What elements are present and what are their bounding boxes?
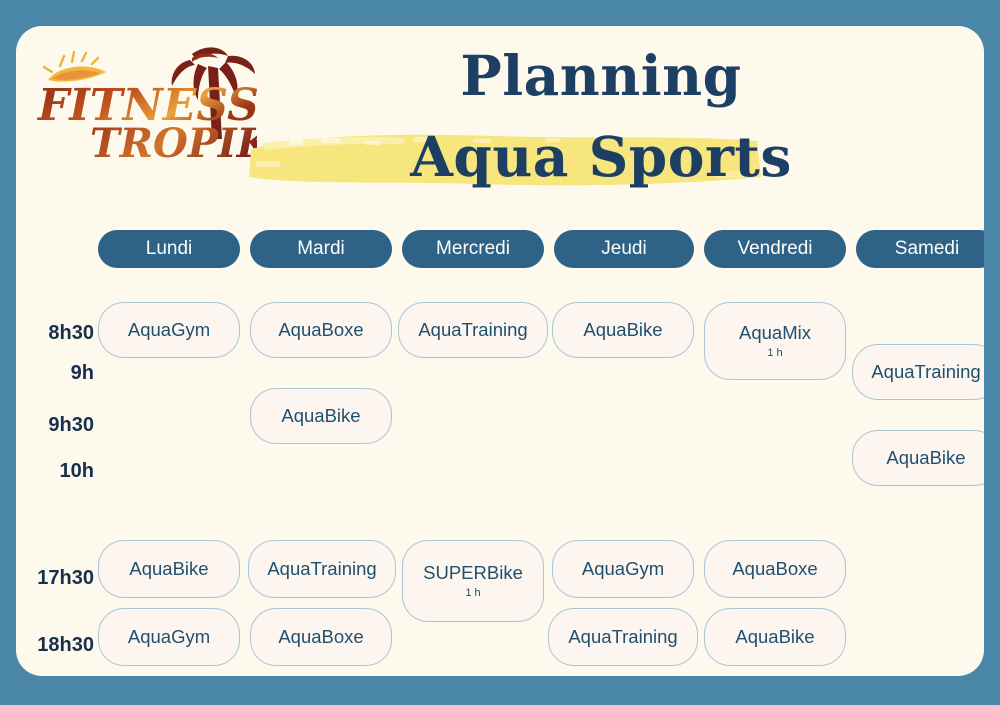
session-slot[interactable]: AquaGym xyxy=(552,540,694,598)
session-name: SUPERBike xyxy=(423,562,523,584)
time-label-9h30: 9h30 xyxy=(16,414,94,436)
poster-title: Planning Aqua Sports xyxy=(231,44,971,209)
session-slot[interactable]: SUPERBike1 h xyxy=(402,540,544,622)
day-header-vendredi[interactable]: Vendredi xyxy=(704,230,846,268)
time-label-9h: 9h xyxy=(16,362,94,384)
sun-icon xyxy=(44,52,106,82)
session-slot[interactable]: AquaTraining xyxy=(852,344,984,400)
session-slot[interactable]: AquaBike xyxy=(852,430,984,486)
session-slot[interactable]: AquaBoxe xyxy=(250,608,392,666)
session-slot[interactable]: AquaTraining xyxy=(248,540,396,598)
session-duration: 1 h xyxy=(465,586,480,600)
session-name: AquaBike xyxy=(281,405,360,427)
session-slot[interactable]: AquaMix1 h xyxy=(704,302,846,380)
session-name: AquaBoxe xyxy=(732,558,817,580)
session-name: AquaGym xyxy=(128,319,210,341)
day-header-row: LundiMardiMercrediJeudiVendrediSamedi xyxy=(16,222,984,268)
day-header-mardi[interactable]: Mardi xyxy=(250,230,392,268)
session-slot[interactable]: AquaBike xyxy=(98,540,240,598)
poster-header: FITNESS TROPIK Planning xyxy=(16,26,984,226)
session-slot[interactable]: AquaTraining xyxy=(548,608,698,666)
session-slot[interactable]: AquaTraining xyxy=(398,302,548,358)
day-header-mercredi[interactable]: Mercredi xyxy=(402,230,544,268)
fitness-tropik-logo: FITNESS TROPIK xyxy=(22,34,257,164)
session-name: AquaBike xyxy=(735,626,814,648)
session-name: AquaBike xyxy=(886,447,965,469)
session-duration: 1 h xyxy=(767,346,782,360)
session-slot[interactable]: AquaBoxe xyxy=(250,302,392,358)
time-label-17h30: 17h30 xyxy=(16,567,94,589)
title-line-planning: Planning xyxy=(231,44,971,108)
session-name: AquaGym xyxy=(128,626,210,648)
time-label-18h30: 18h30 xyxy=(16,634,94,656)
day-header-lundi[interactable]: Lundi xyxy=(98,230,240,268)
session-name: AquaTraining xyxy=(418,319,527,341)
session-name: AquaBike xyxy=(583,319,662,341)
session-slot[interactable]: AquaBike xyxy=(552,302,694,358)
session-slot[interactable]: AquaBike xyxy=(704,608,846,666)
session-name: AquaTraining xyxy=(871,361,980,383)
session-name: AquaTraining xyxy=(267,558,376,580)
day-header-jeudi[interactable]: Jeudi xyxy=(554,230,694,268)
session-slot[interactable]: AquaGym xyxy=(98,302,240,358)
day-header-samedi[interactable]: Samedi xyxy=(856,230,984,268)
session-name: AquaGym xyxy=(582,558,664,580)
time-label-8h30: 8h30 xyxy=(16,322,94,344)
planning-poster: FITNESS TROPIK Planning xyxy=(16,26,984,676)
session-name: AquaMix xyxy=(739,322,811,344)
session-name: AquaBike xyxy=(129,558,208,580)
session-name: AquaBoxe xyxy=(278,626,363,648)
session-slot[interactable]: AquaBike xyxy=(250,388,392,444)
session-name: AquaTraining xyxy=(568,626,677,648)
title-line-aqua-sports: Aqua Sports xyxy=(231,124,971,190)
time-label-10h: 10h xyxy=(16,460,94,482)
session-slot[interactable]: AquaGym xyxy=(98,608,240,666)
session-name: AquaBoxe xyxy=(278,319,363,341)
schedule-grid: LundiMardiMercrediJeudiVendrediSamedi 8h… xyxy=(16,222,984,672)
session-slot[interactable]: AquaBoxe xyxy=(704,540,846,598)
